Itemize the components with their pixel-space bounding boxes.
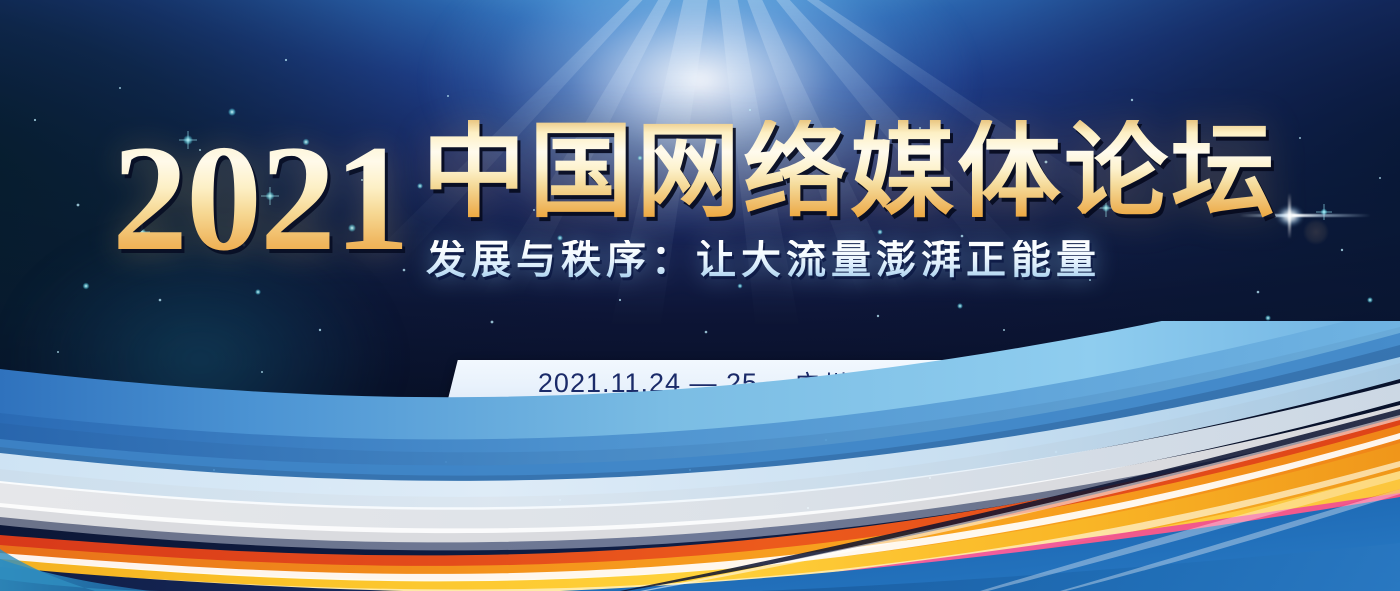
wave-ribbon-decoration <box>0 321 1400 591</box>
event-poster: 2021 中国网络媒体论坛 发展与秩序：让大流量澎湃正能量 2021.11.24… <box>0 0 1400 591</box>
page-title: 中国网络媒体论坛 <box>422 120 1278 226</box>
title-text-group: 中国网络媒体论坛 发展与秩序：让大流量澎湃正能量 <box>422 120 1278 280</box>
page-subtitle: 发展与秩序：让大流量澎湃正能量 <box>426 240 1278 280</box>
title-block: 2021 中国网络媒体论坛 发展与秩序：让大流量澎湃正能量 <box>0 118 1400 278</box>
event-year: 2021 <box>112 122 408 274</box>
